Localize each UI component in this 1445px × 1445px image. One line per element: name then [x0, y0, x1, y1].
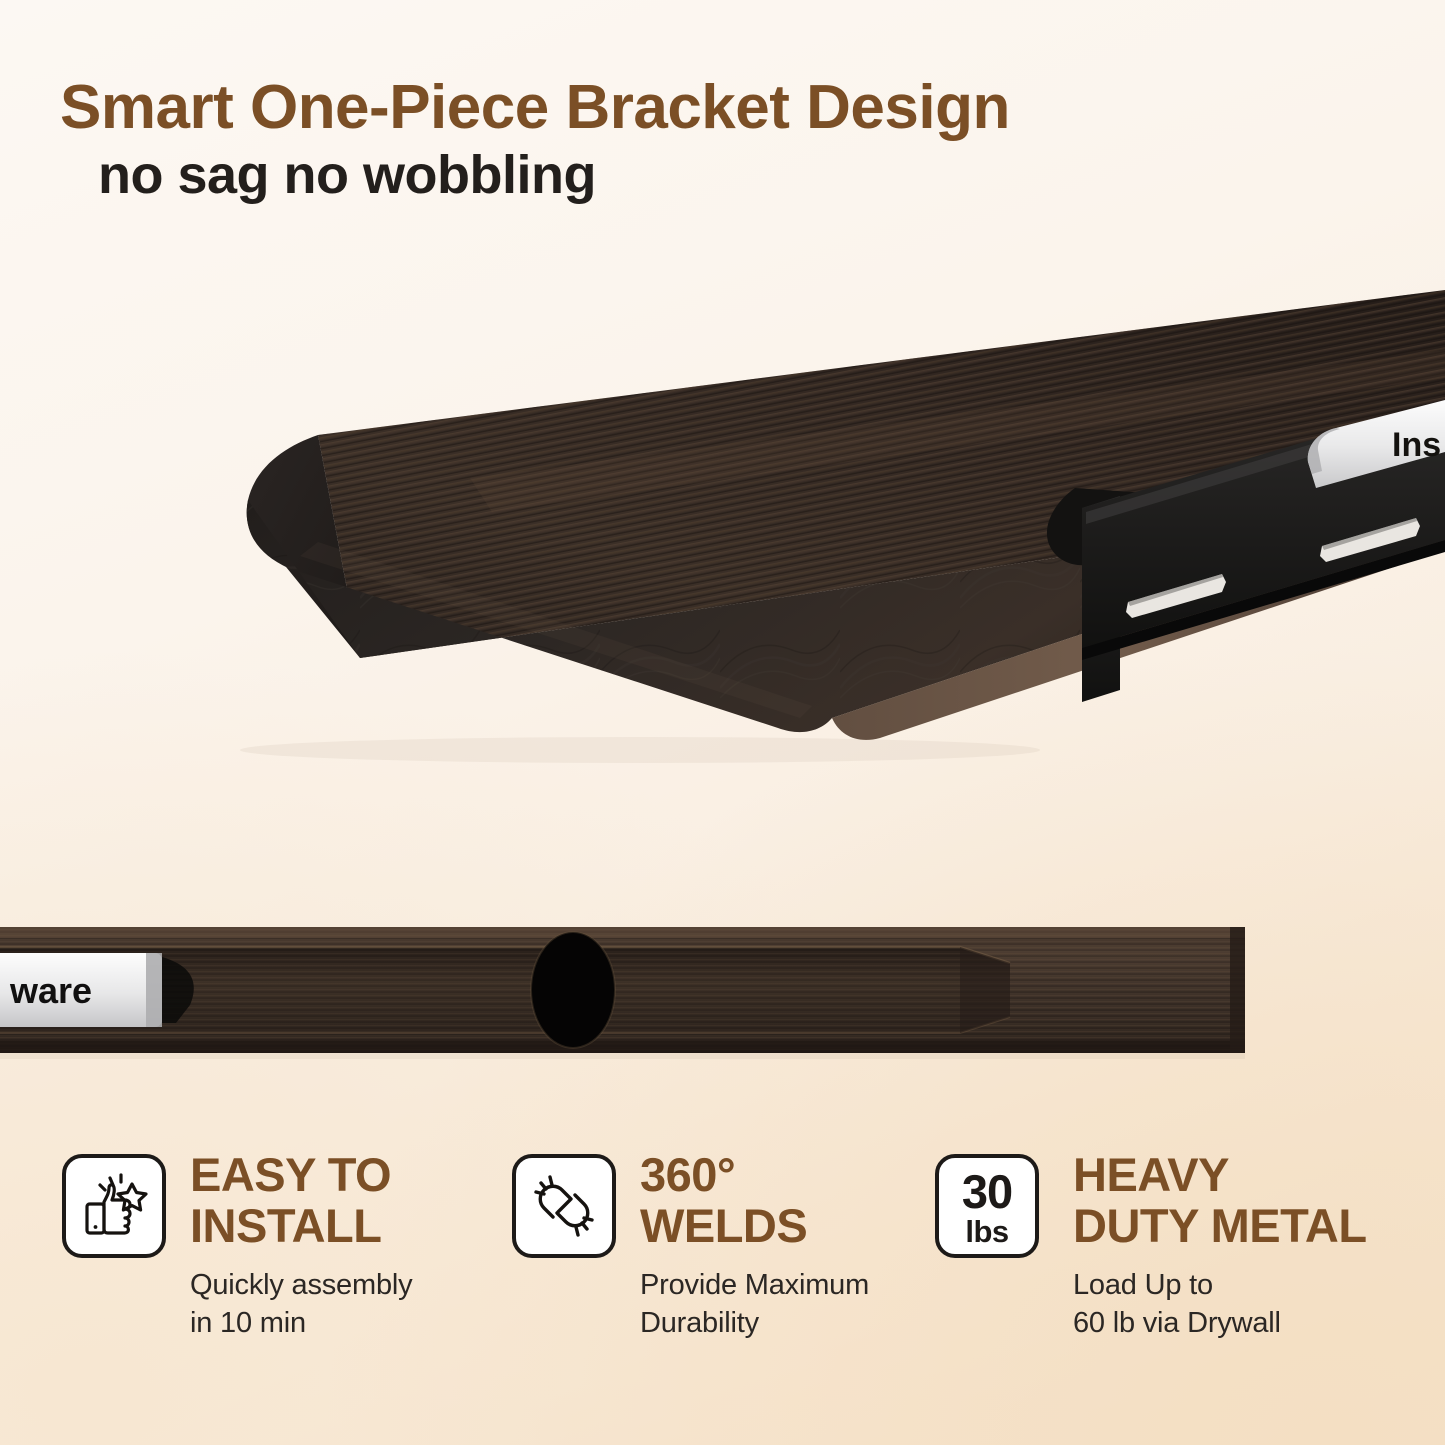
- feature-description: Quickly assembly in 10 min: [190, 1266, 412, 1344]
- page-subtitle: no sag no wobbling: [98, 144, 596, 206]
- hardware-label-bottom-text: ware: [9, 970, 92, 1011]
- weight-badge-number: 30: [962, 1168, 1012, 1215]
- feature-highlights: EASY TO INSTALL Quickly assembly in 10 m…: [0, 1150, 1445, 1380]
- feature-title: HEAVY DUTY METAL: [1073, 1150, 1367, 1252]
- product-photo-shelf-back: ware: [0, 905, 1445, 1080]
- thumbs-up-star-icon: [62, 1154, 166, 1258]
- page-title: Smart One-Piece Bracket Design: [60, 72, 1010, 143]
- weight-badge-unit: lbs: [965, 1216, 1008, 1247]
- product-photo-angled-shelf: Ins: [0, 250, 1445, 770]
- feature-description: Provide Maximum Durability: [640, 1266, 869, 1344]
- feature-text: HEAVY DUTY METAL Load Up to 60 lb via Dr…: [1073, 1150, 1367, 1343]
- feature-text: EASY TO INSTALL Quickly assembly in 10 m…: [190, 1150, 412, 1343]
- product-infographic: Smart One-Piece Bracket Design no sag no…: [0, 0, 1445, 1445]
- feature-text: 360° WELDS Provide Maximum Durability: [640, 1150, 869, 1343]
- feature-description: Load Up to 60 lb via Drywall: [1073, 1266, 1367, 1344]
- hardware-label-text: Ins: [1392, 426, 1441, 464]
- weld-chain-link-icon: [512, 1154, 616, 1258]
- feature-title: EASY TO INSTALL: [190, 1150, 412, 1252]
- hardware-label-bottom: ware: [0, 953, 194, 1027]
- feature-title: 360° WELDS: [640, 1150, 869, 1252]
- weight-badge-icon: 30 lbs: [935, 1154, 1039, 1258]
